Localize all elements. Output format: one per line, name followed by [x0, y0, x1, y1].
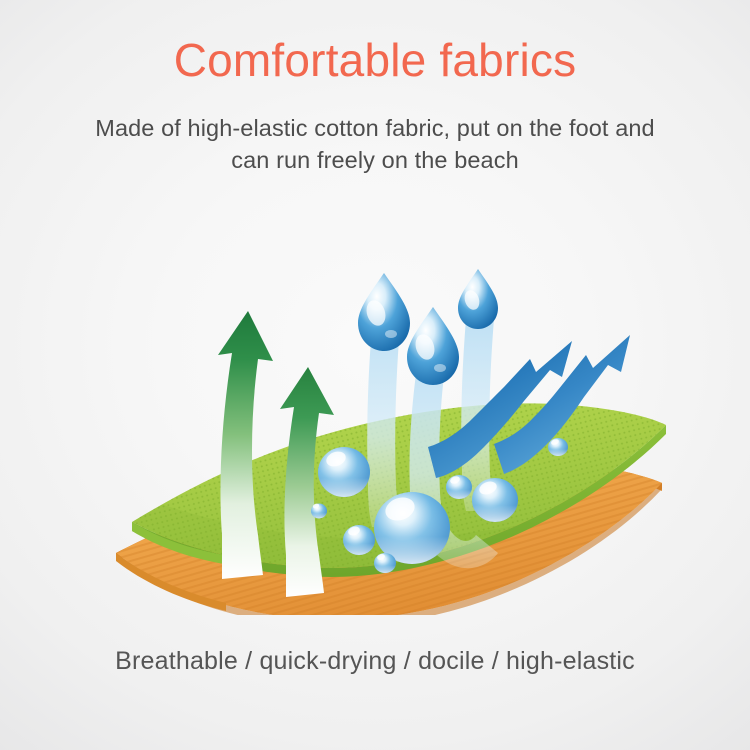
water-droplet-rising-2: [407, 307, 459, 385]
page-subtitle: Made of high-elastic cotton fabric, put …: [0, 112, 750, 176]
subtitle-line-1: Made of high-elastic cotton fabric, put …: [0, 112, 750, 144]
water-bead-4: [446, 475, 472, 499]
water-bead-6: [374, 553, 396, 573]
water-bead-2: [318, 447, 370, 497]
water-bead-7: [548, 438, 568, 456]
subtitle-line-2: can run freely on the beach: [0, 144, 750, 176]
water-droplet-rising-1: [358, 273, 410, 351]
fabric-illustration: [110, 235, 670, 615]
water-bead-3: [472, 478, 518, 522]
product-feature-slide: Comfortable fabrics Made of high-elastic…: [0, 0, 750, 750]
water-droplet-rising-3: [458, 269, 498, 329]
water-bead-5: [343, 525, 375, 555]
feature-list: Breathable / quick-drying / docile / hig…: [0, 646, 750, 676]
page-title: Comfortable fabrics: [0, 34, 750, 87]
